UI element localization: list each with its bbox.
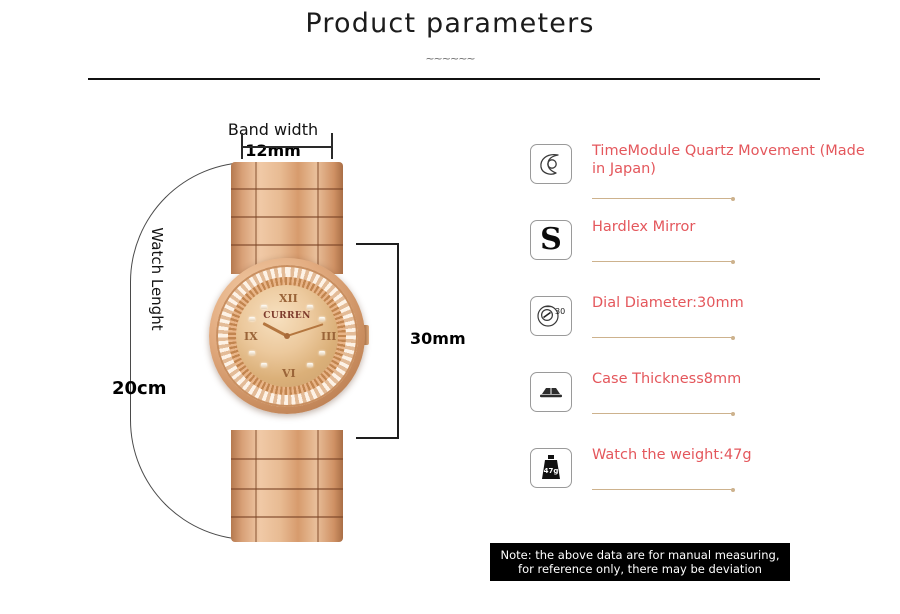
- title-ornament: ~~~~~~: [0, 52, 900, 65]
- numeral-9: IX: [244, 330, 258, 343]
- hour-marker: [307, 363, 313, 367]
- bracelet-link-seam: [231, 516, 343, 518]
- feature-label: Watch the weight:47g: [592, 446, 867, 464]
- feature-row: Case Thickness8mm: [530, 368, 870, 444]
- diameter-bracket-line: [397, 243, 399, 439]
- numeral-6: VI: [282, 367, 296, 380]
- bracelet-link-edge: [255, 430, 257, 542]
- dial-diameter-icon: 30: [530, 296, 572, 336]
- watch-length-label: Watch Lenght: [148, 204, 166, 354]
- bracelet-lower: [231, 430, 343, 542]
- bracelet-link-seam: [231, 216, 343, 218]
- bracelet-link-seam: [231, 244, 343, 246]
- bracelet-link-seam: [231, 488, 343, 490]
- hour-marker: [249, 351, 255, 355]
- hour-marker: [261, 363, 267, 367]
- watch-length-value: 20cm: [112, 378, 166, 399]
- watch-image: CURREN XII III VI IX: [205, 162, 369, 542]
- feature-underline: [592, 261, 732, 262]
- svg-text:30: 30: [555, 307, 565, 316]
- disclaimer-text: Note: the above data are for manual meas…: [498, 548, 782, 576]
- watch-dimension-diagram: Band width 12mm Watch Lenght 20cm 30mm: [110, 100, 490, 550]
- numeral-12: XII: [279, 292, 298, 305]
- hour-marker: [307, 305, 313, 309]
- bracelet-link-edge: [317, 430, 319, 542]
- hands-center-cap: [284, 333, 290, 339]
- feature-underline: [592, 337, 732, 338]
- watch-movement-icon: [530, 144, 572, 184]
- feature-row: TimeModule Quartz Movement (Made in Japa…: [530, 140, 870, 216]
- hour-marker: [319, 351, 325, 355]
- bracelet-link-seam: [231, 458, 343, 460]
- bracelet-link-edge: [317, 162, 319, 274]
- bracelet-link-edge: [255, 162, 257, 274]
- feature-label: Dial Diameter:30mm: [592, 294, 867, 312]
- band-width-value: 12mm: [188, 141, 358, 160]
- feature-list: TimeModule Quartz Movement (Made in Japa…: [530, 140, 870, 520]
- hour-marker: [249, 317, 255, 321]
- hour-marker: [261, 305, 267, 309]
- watch-dial: CURREN XII III VI IX: [236, 285, 338, 387]
- minute-hand: [287, 323, 324, 337]
- header-divider: [88, 78, 820, 80]
- page-title: Product parameters: [0, 8, 900, 39]
- case-thickness-icon: [530, 372, 572, 412]
- disclaimer-banner: Note: the above data are for manual meas…: [490, 543, 790, 581]
- feature-row: S Hardlex Mirror: [530, 216, 870, 292]
- feature-row: 47g Watch the weight:47g: [530, 444, 870, 520]
- watch-weight-icon: 47g: [530, 448, 572, 488]
- watch-case: CURREN XII III VI IX: [209, 258, 365, 414]
- band-width-caliper-bar: [241, 146, 332, 148]
- feature-row: 30 Dial Diameter:30mm: [530, 292, 870, 368]
- feature-label: TimeModule Quartz Movement (Made in Japa…: [592, 142, 867, 178]
- feature-underline: [592, 489, 732, 490]
- bracelet-link-seam: [231, 188, 343, 190]
- feature-underline: [592, 413, 732, 414]
- feature-label: Case Thickness8mm: [592, 370, 867, 388]
- feature-underline: [592, 198, 732, 199]
- hardlex-s-icon: S: [530, 220, 572, 260]
- hour-marker: [319, 317, 325, 321]
- band-width-label: Band width: [188, 120, 358, 139]
- dial-diameter-value: 30mm: [410, 329, 466, 348]
- svg-text:47g: 47g: [544, 467, 559, 475]
- feature-label: Hardlex Mirror: [592, 218, 867, 236]
- numeral-3: III: [321, 330, 336, 343]
